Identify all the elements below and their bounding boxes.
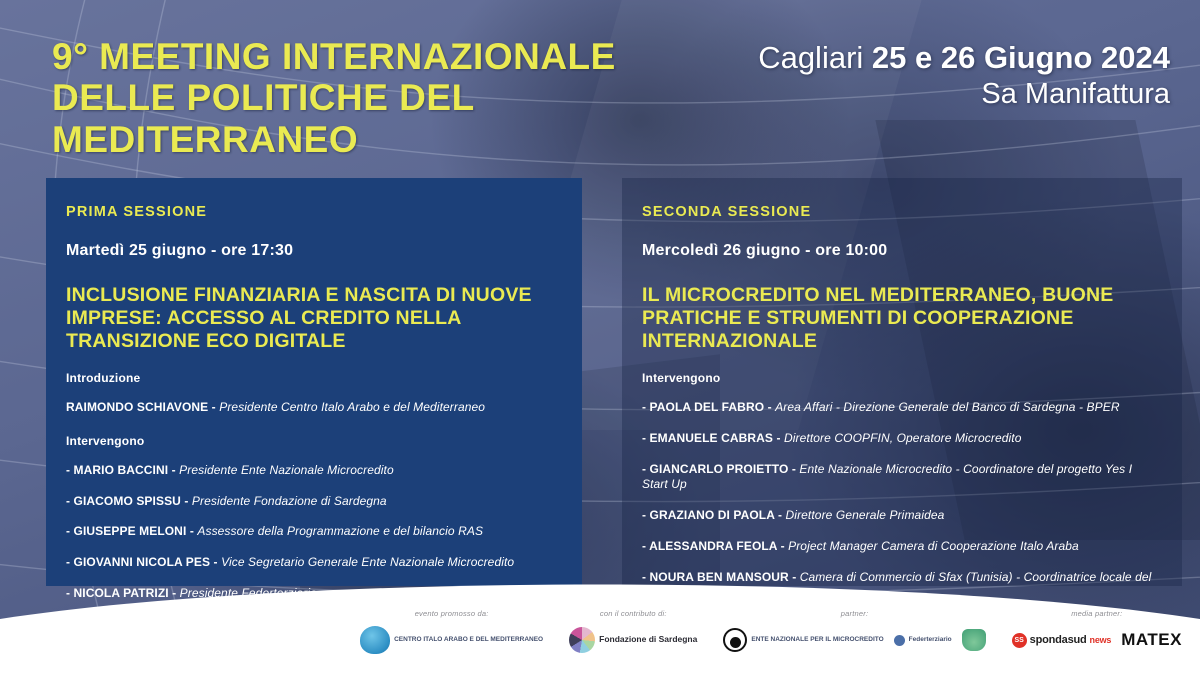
event-city: Cagliari <box>758 40 872 75</box>
speaker-separator: - <box>186 524 197 538</box>
speaker-name: - GIUSEPPE MELONI <box>66 524 186 538</box>
speaker-name: - GIANCARLO PROIETTO <box>642 462 788 476</box>
footer-logo-row: CENTRO ITALO ARABO E DEL MEDITERRANEO <box>360 623 543 657</box>
footer-logo-row: Fondazione di Sardegna <box>569 623 697 657</box>
session-label: PRIMA SESSIONE <box>66 204 556 220</box>
water-drop-icon <box>360 626 390 654</box>
session-panel-second: SECONDA SESSIONE Mercoledì 26 giugno - o… <box>622 178 1182 586</box>
footer-group-promoter: evento promosso da: CENTRO ITALO ARABO E… <box>360 609 543 657</box>
footer-caption: evento promosso da: <box>415 609 489 618</box>
speaker-role: Direttore Generale Primaidea <box>786 508 945 522</box>
footer-group-partner: partner: ENTE NAZIONALE PER IL MICROCRED… <box>723 609 985 657</box>
centro-italo-arabo-label: CENTRO ITALO ARABO E DEL MEDITERRANEO <box>394 636 543 643</box>
speaker-role: Presidente Ente Nazionale Microcredito <box>179 463 394 477</box>
pie-wheel-icon <box>569 627 595 653</box>
speaker-entry: - EMANUELE CABRAS - Direttore COOPFIN, O… <box>642 431 1156 447</box>
speaker-separator: - <box>208 400 219 414</box>
speaker-role: Assessore della Programmazione e del bil… <box>197 524 483 538</box>
footer-logo-row: SS spondasud news MATEX <box>1012 623 1182 657</box>
speaker-name: - GRAZIANO DI PAOLA <box>642 508 775 522</box>
centro-italo-arabo-logo: CENTRO ITALO ARABO E DEL MEDITERRANEO <box>360 626 543 654</box>
speaker-entry: - PAOLA DEL FABRO - Area Affari - Direzi… <box>642 400 1156 416</box>
speaker-entry: - GIANCARLO PROIETTO - Ente Nazionale Mi… <box>642 462 1156 494</box>
fondazione-label: Fondazione di Sardegna <box>599 635 697 645</box>
speaker-separator: - <box>210 555 221 569</box>
event-city-date: Cagliari 25 e 26 Giugno 2024 <box>650 40 1170 76</box>
sessions-area: PRIMA SESSIONE Martedì 25 giugno - ore 1… <box>0 178 1200 598</box>
speaker-separator: - <box>168 463 179 477</box>
session-title: IL MICROCREDITO NEL MEDITERRANEO, BUONE … <box>642 284 1156 353</box>
sponda-news-label: news <box>1090 635 1112 645</box>
footer-group-contributor: con il contributo di: Fondazione di Sard… <box>569 609 697 657</box>
speakers-label: Intervengono <box>642 371 1156 385</box>
speaker-name: - MARIO BACCINI <box>66 463 168 477</box>
sponda-sud-news-logo: SS spondasud news <box>1012 633 1112 648</box>
session-date: Martedì 25 giugno - ore 17:30 <box>66 242 556 260</box>
fondazione-di-sardegna-logo: Fondazione di Sardegna <box>569 627 697 653</box>
speaker-entry: - MARIO BACCINI - Presidente Ente Nazion… <box>66 463 556 479</box>
footer-caption: con il contributo di: <box>600 609 667 618</box>
session-title: INCLUSIONE FINANZIARIA E NASCITA DI NUOV… <box>66 284 556 353</box>
speaker-name: - GIOVANNI NICOLA PES <box>66 555 210 569</box>
circle-dot-icon <box>723 628 747 652</box>
event-poster: 9° Meeting Internazionale delle Politich… <box>0 0 1200 675</box>
speaker-role: Presidente Fondazione di Sardegna <box>192 494 387 508</box>
speaker-role: Presidente Centro Italo Arabo e del Medi… <box>219 400 485 414</box>
session-date: Mercoledì 26 giugno - ore 10:00 <box>642 242 1156 260</box>
speaker-role: Direttore COOPFIN, Operatore Microcredit… <box>784 431 1022 445</box>
poster-header: 9° Meeting Internazionale delle Politich… <box>0 0 1200 178</box>
event-venue: Sa Manifattura <box>650 78 1170 112</box>
footer-caption: partner: <box>841 609 868 618</box>
speaker-name: RAIMONDO SCHIAVONE <box>66 400 208 414</box>
footer-caption: media partner: <box>1071 609 1122 618</box>
speaker-name: - EMANUELE CABRAS <box>642 431 773 445</box>
matex-logo: MATEX <box>1121 630 1182 650</box>
speaker-separator: - <box>764 400 775 414</box>
speaker-entry: - GIUSEPPE MELONI - Assessore della Prog… <box>66 524 556 540</box>
session-label: SECONDA SESSIONE <box>642 204 1156 220</box>
green-arch-icon <box>962 629 986 651</box>
speaker-separator: - <box>181 494 192 508</box>
speakers-label: Intervengono <box>66 434 556 448</box>
event-dates: 25 e 26 Giugno 2024 <box>872 40 1170 75</box>
federterziario-logo: Federterziario <box>894 635 952 646</box>
speaker-entry: - GRAZIANO DI PAOLA - Direttore Generale… <box>642 508 1156 524</box>
speaker-entry: - ALESSANDRA FEOLA - Project Manager Cam… <box>642 539 1156 555</box>
session-panel-first: PRIMA SESSIONE Martedì 25 giugno - ore 1… <box>46 178 582 586</box>
sponda-label: spondasud <box>1030 634 1087 646</box>
camera-italo-araba-logo <box>962 629 986 651</box>
speaker-entry: RAIMONDO SCHIAVONE - Presidente Centro I… <box>66 400 556 416</box>
speaker-separator: - <box>773 431 784 445</box>
speaker-role: Project Manager Camera di Cooperazione I… <box>788 539 1079 553</box>
speaker-separator: - <box>777 539 788 553</box>
speaker-name: - ALESSANDRA FEOLA <box>642 539 777 553</box>
blue-dot-icon <box>894 635 905 646</box>
speaker-separator: - <box>775 508 786 522</box>
federterziario-label: Federterziario <box>909 636 952 643</box>
sponda-badge-icon: SS <box>1012 633 1027 648</box>
speaker-name: - GIACOMO SPISSU <box>66 494 181 508</box>
speaker-entry: - GIOVANNI NICOLA PES - Vice Segretario … <box>66 555 556 571</box>
ente-nazionale-microcredito-logo: ENTE NAZIONALE PER IL MICROCREDITO <box>723 628 883 652</box>
footer-logo-row: ENTE NAZIONALE PER IL MICROCREDITO Feder… <box>723 623 985 657</box>
page-title: 9° Meeting Internazionale delle Politich… <box>52 36 672 160</box>
event-details: Cagliari 25 e 26 Giugno 2024 Sa Manifatt… <box>650 40 1170 112</box>
speaker-role: Area Affari - Direzione Generale del Ban… <box>775 400 1120 414</box>
speaker-name: - PAOLA DEL FABRO <box>642 400 764 414</box>
speaker-separator: - <box>788 462 799 476</box>
speaker-entry: - GIACOMO SPISSU - Presidente Fondazione… <box>66 494 556 510</box>
ente-microcredito-label: ENTE NAZIONALE PER IL MICROCREDITO <box>751 636 883 643</box>
speaker-role: Vice Segretario Generale Ente Nazionale … <box>221 555 514 569</box>
footer-group-media-partner: media partner: SS spondasud news MATEX <box>1012 609 1182 657</box>
intro-label: Introduzione <box>66 371 556 385</box>
footer-logos: evento promosso da: CENTRO ITALO ARABO E… <box>0 603 1200 675</box>
